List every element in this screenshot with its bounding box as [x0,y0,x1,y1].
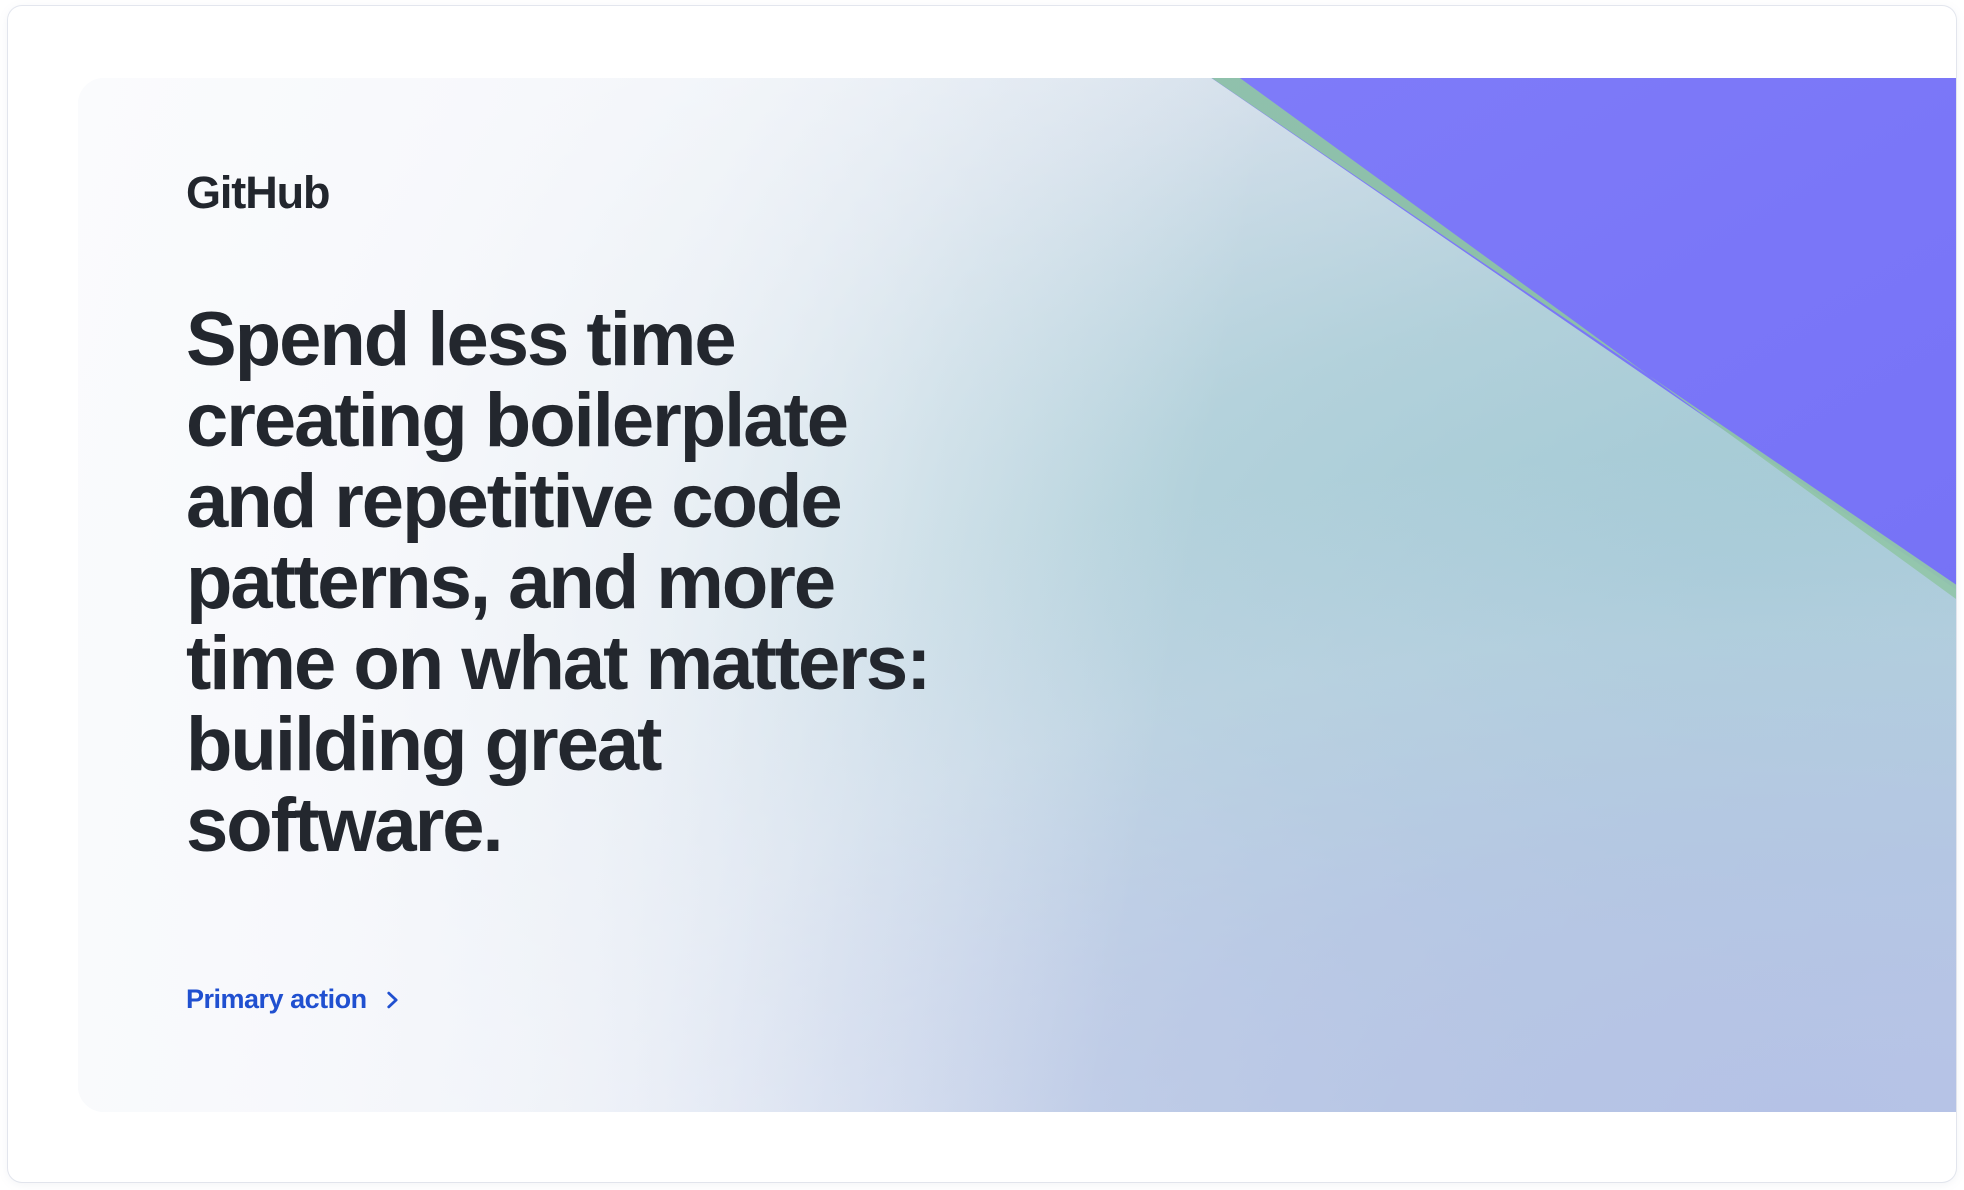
chevron-right-icon [381,989,403,1011]
primary-action-label: Primary action [186,984,367,1015]
github-wordmark: GitHub [186,170,1186,215]
cta-row: Primary action [186,866,1186,1015]
page-title: Spend less time creating boilerplate and… [186,215,976,866]
primary-action-link[interactable]: Primary action [186,984,403,1015]
promo-card: GitHub Spend less time creating boilerpl… [78,78,1956,1112]
card-content: GitHub Spend less time creating boilerpl… [186,170,1186,1015]
outer-frame: GitHub Spend less time creating boilerpl… [8,6,1956,1182]
